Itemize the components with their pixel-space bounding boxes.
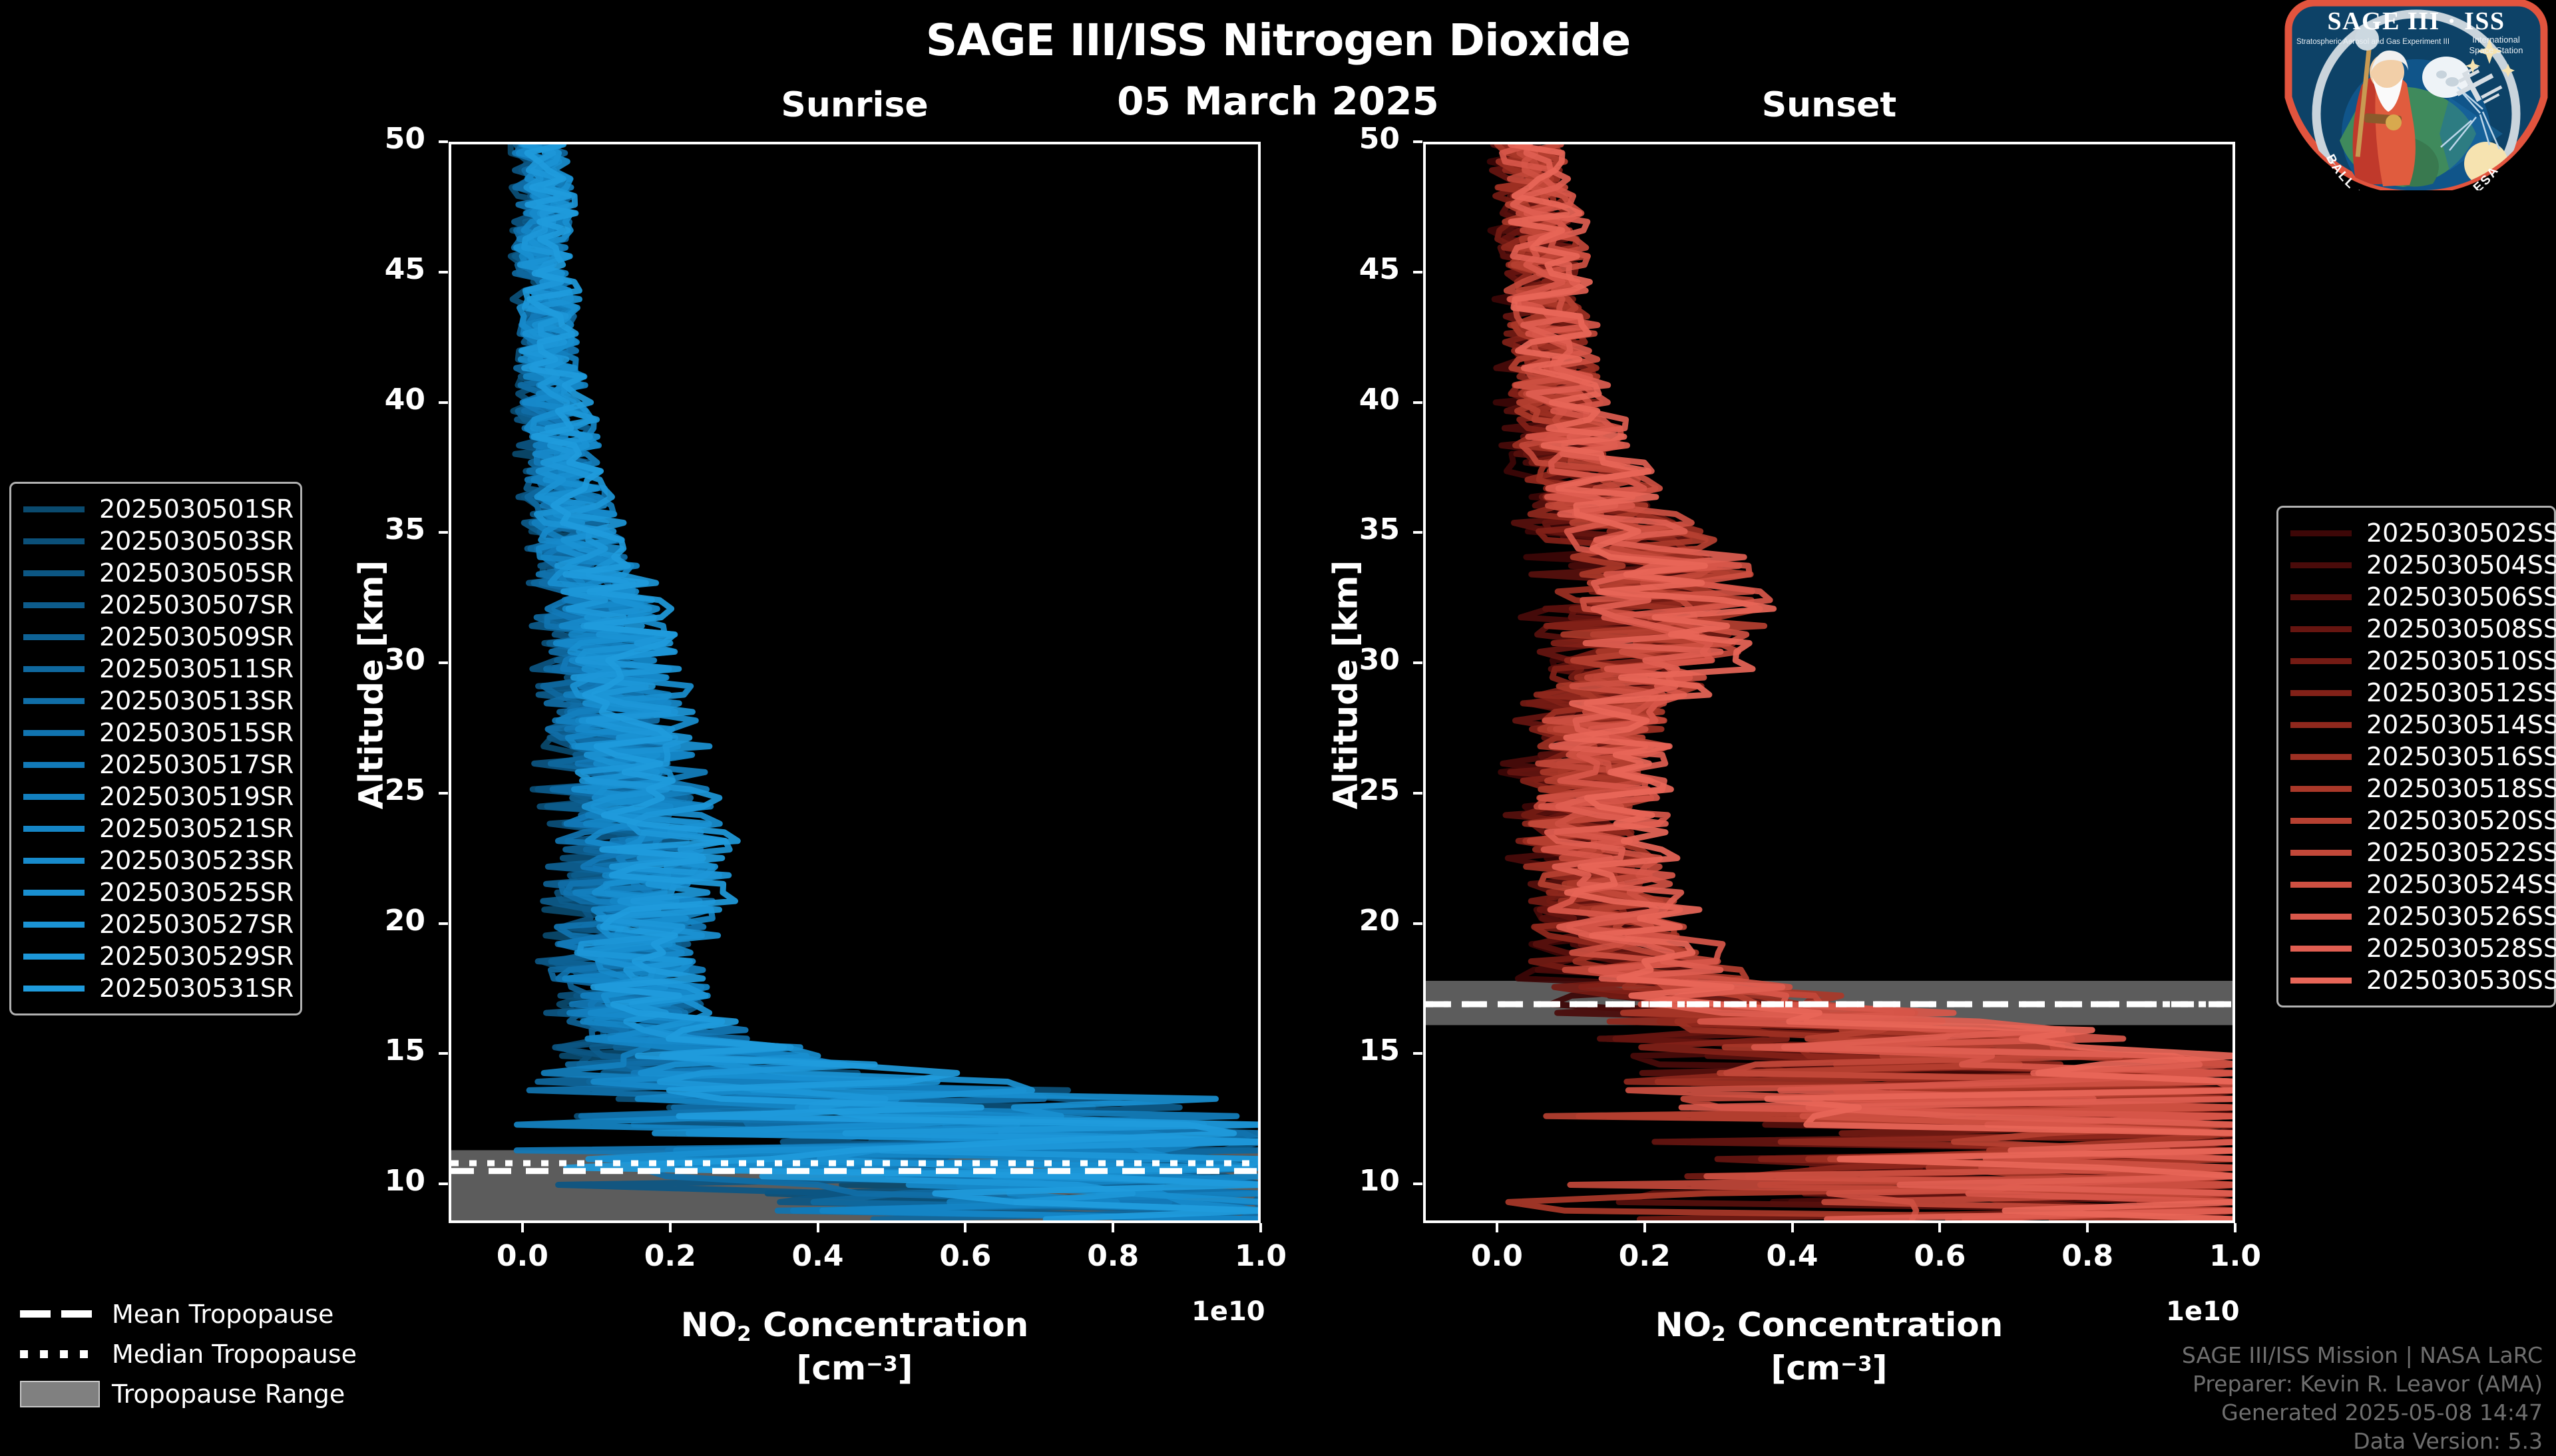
x-tick-mark <box>964 1223 966 1232</box>
y-tick-mark <box>1413 531 1422 534</box>
xlabel-unit-post: ] <box>1872 1349 1888 1387</box>
legend-item[interactable]: 2025030503SR <box>23 525 288 557</box>
x-tick-label: 0.8 <box>1060 1239 1166 1273</box>
x-tick-label: 0.6 <box>912 1239 1018 1273</box>
sunrise-profiles <box>451 144 1258 1220</box>
legend-item-label: 2025030515SR <box>99 718 294 747</box>
x-tick-label: 0.4 <box>1739 1239 1846 1273</box>
x-tick-label: 0.2 <box>1592 1239 1698 1273</box>
legend-item-label: 2025030513SR <box>99 686 294 715</box>
credit-data-version: Data Version: 5.3 <box>2182 1427 2543 1456</box>
legend-item-label: 2025030511SR <box>99 654 294 683</box>
legend-color-swatch <box>2290 978 2352 984</box>
sunset-y-axis-label: Altitude [km] <box>1326 560 1365 810</box>
legend-item-label: 2025030522SS <box>2366 838 2556 867</box>
xlabel-no2-text: NO <box>1655 1306 1711 1344</box>
legend-color-swatch <box>2290 946 2352 952</box>
legend-item[interactable]: 2025030504SS <box>2290 549 2542 581</box>
x-tick-label: 1.0 <box>1207 1239 1314 1273</box>
y-tick-mark <box>1413 401 1422 404</box>
x-tick-mark <box>1496 1223 1498 1232</box>
legend-item[interactable]: 2025030519SR <box>23 781 288 813</box>
legend-item[interactable]: 2025030501SR <box>23 493 288 525</box>
legend-item[interactable]: 2025030508SS <box>2290 613 2542 645</box>
legend-item[interactable]: 2025030529SR <box>23 940 288 972</box>
y-tick-label: 35 <box>325 512 425 546</box>
y-tick-label: 45 <box>1300 252 1400 286</box>
legend-item[interactable]: 2025030522SS <box>2290 836 2542 868</box>
legend-item[interactable]: 2025030518SS <box>2290 773 2542 805</box>
legend-item[interactable]: 2025030507SR <box>23 589 288 621</box>
legend-item[interactable]: 2025030530SS <box>2290 964 2542 996</box>
y-tick-mark <box>439 1183 448 1185</box>
legend-item-label: 2025030501SR <box>99 494 294 524</box>
x-tick-mark <box>2086 1223 2089 1232</box>
x-tick-label: 0.0 <box>469 1239 576 1273</box>
y-tick-label: 25 <box>325 773 425 807</box>
legend-color-swatch <box>2290 786 2352 792</box>
xlabel-concentration-text: Concentration <box>751 1306 1028 1344</box>
legend-color-swatch <box>2290 626 2352 632</box>
sunrise-x-offset-label: 1e10 <box>1191 1296 1265 1327</box>
sunrise-plot-area <box>449 142 1261 1223</box>
legend-item[interactable]: 2025030502SS <box>2290 517 2542 549</box>
legend-color-swatch <box>23 538 85 544</box>
legend-item-label: 2025030505SR <box>99 558 294 588</box>
sunset-panel-title: Sunset <box>1423 85 2235 125</box>
y-tick-label: 25 <box>1300 773 1400 807</box>
tropopause-legend: Mean Tropopause Median Tropopause Tropop… <box>20 1294 357 1414</box>
legend-color-swatch <box>2290 722 2352 728</box>
legend-item[interactable]: 2025030516SS <box>2290 741 2542 773</box>
legend-color-swatch <box>2290 914 2352 920</box>
y-tick-mark <box>1413 1183 1422 1185</box>
legend-color-swatch <box>23 922 85 928</box>
tropopause-range-label: Tropopause Range <box>112 1379 345 1409</box>
legend-item-label: 2025030525SR <box>99 878 294 907</box>
xlabel-unit-post: ] <box>898 1349 913 1387</box>
y-tick-label: 30 <box>1300 643 1400 677</box>
legend-item-label: 2025030528SS <box>2366 934 2556 963</box>
logo-subtitle-right-1: International <box>2472 35 2520 45</box>
legend-item-label: 2025030529SR <box>99 942 294 971</box>
legend-item-label: 2025030503SR <box>99 526 294 556</box>
legend-item-label: 2025030519SR <box>99 782 294 811</box>
y-tick-mark <box>439 271 448 273</box>
xlabel-unit-pre: [cm <box>1771 1349 1841 1387</box>
legend-color-swatch <box>23 954 85 960</box>
legend-color-swatch <box>23 666 85 672</box>
y-tick-label: 15 <box>325 1033 425 1067</box>
x-tick-label: 1.0 <box>2182 1239 2288 1273</box>
sunset-x-offset-label: 1e10 <box>2166 1296 2240 1327</box>
x-tick-mark <box>817 1223 819 1232</box>
mean-tropopause-label: Mean Tropopause <box>112 1300 333 1329</box>
y-tick-mark <box>439 1052 448 1055</box>
xlabel-no2-subscript: 2 <box>1711 1322 1726 1346</box>
sunrise-legend[interactable]: 2025030501SR2025030503SR2025030505SR2025… <box>9 482 302 1015</box>
legend-item-label: 2025030530SS <box>2366 966 2556 995</box>
legend-item-label: 2025030523SR <box>99 846 294 875</box>
mean-tropopause-dash-icon <box>20 1307 100 1322</box>
x-tick-mark <box>1112 1223 1114 1232</box>
y-tick-mark <box>1413 661 1422 664</box>
y-tick-label: 35 <box>1300 512 1400 546</box>
legend-color-swatch <box>2290 594 2352 600</box>
legend-color-swatch <box>2290 850 2352 856</box>
x-tick-label: 0.0 <box>1444 1239 1550 1273</box>
legend-color-swatch <box>23 506 85 512</box>
legend-color-swatch <box>2290 882 2352 888</box>
y-tick-mark <box>439 792 448 795</box>
logo-title-text: SAGE III · ISS <box>2327 7 2505 35</box>
legend-item[interactable]: 2025030528SS <box>2290 932 2542 964</box>
y-tick-label: 15 <box>1300 1033 1400 1067</box>
x-tick-mark <box>1791 1223 1794 1232</box>
legend-item[interactable]: 2025030509SR <box>23 621 288 653</box>
x-tick-mark <box>669 1223 672 1232</box>
legend-color-swatch <box>2290 818 2352 824</box>
legend-item-label: 2025030531SR <box>99 974 294 1003</box>
xlabel-no2-subscript: 2 <box>737 1322 751 1346</box>
y-tick-mark <box>1413 140 1422 143</box>
x-tick-label: 0.6 <box>1886 1239 1993 1273</box>
sunset-legend[interactable]: 2025030502SS2025030504SS2025030506SS2025… <box>2276 506 2556 1007</box>
legend-item-label: 2025030527SR <box>99 910 294 939</box>
legend-item-label: 2025030506SS <box>2366 582 2556 612</box>
legend-item[interactable]: 2025030531SR <box>23 972 288 1004</box>
x-tick-label: 0.8 <box>2034 1239 2141 1273</box>
legend-item-label: 2025030517SR <box>99 750 294 779</box>
y-tick-label: 40 <box>325 383 425 417</box>
legend-item[interactable]: 2025030512SS <box>2290 677 2542 709</box>
legend-color-swatch <box>2290 658 2352 664</box>
y-tick-mark <box>439 531 448 534</box>
legend-item-tropopause-range: Tropopause Range <box>20 1374 357 1414</box>
legend-item[interactable]: 2025030527SR <box>23 908 288 940</box>
legend-item[interactable]: 2025030510SS <box>2290 645 2542 677</box>
x-tick-label: 0.4 <box>765 1239 871 1273</box>
legend-color-swatch <box>23 890 85 896</box>
legend-item[interactable]: 2025030525SR <box>23 876 288 908</box>
y-tick-mark <box>1413 922 1422 925</box>
sunrise-panel-title: Sunrise <box>449 85 1261 125</box>
y-tick-mark <box>439 401 448 404</box>
legend-item[interactable]: 2025030526SS <box>2290 900 2542 932</box>
legend-color-swatch <box>23 730 85 736</box>
legend-item[interactable]: 2025030513SR <box>23 685 288 717</box>
legend-color-swatch <box>23 602 85 608</box>
median-tropopause-dot-icon <box>20 1347 100 1362</box>
xlabel-unit-exp: −3 <box>1840 1352 1872 1376</box>
y-tick-mark <box>439 140 448 143</box>
credits-block: SAGE III/ISS Mission | NASA LaRC Prepare… <box>2182 1342 2543 1456</box>
legend-item-label: 2025030507SR <box>99 590 294 620</box>
legend-item[interactable]: 2025030520SS <box>2290 805 2542 836</box>
x-tick-mark <box>521 1223 524 1232</box>
legend-item-label: 2025030502SS <box>2366 518 2556 548</box>
xlabel-unit-exp: −3 <box>866 1352 898 1376</box>
legend-item-median-tropopause: Median Tropopause <box>20 1334 357 1374</box>
legend-item[interactable]: 2025030514SS <box>2290 709 2542 741</box>
logo-subtitle-left: Stratospheric Aerosol and Gas Experiment… <box>2296 38 2449 46</box>
legend-item-label: 2025030526SS <box>2366 902 2556 931</box>
legend-color-swatch <box>23 634 85 640</box>
y-tick-label: 20 <box>325 904 425 938</box>
y-tick-mark <box>439 922 448 925</box>
legend-item-label: 2025030508SS <box>2366 614 2556 643</box>
y-tick-mark <box>1413 792 1422 795</box>
xlabel-no2-text: NO <box>681 1306 737 1344</box>
legend-color-swatch <box>23 570 85 576</box>
y-tick-label: 50 <box>1300 122 1400 156</box>
legend-item[interactable]: 2025030511SR <box>23 653 288 685</box>
sage-iii-iss-mission-patch-logo: SAGE III · ISS Stratospheric Aerosol and… <box>2283 0 2549 190</box>
legend-color-swatch <box>2290 530 2352 536</box>
logo-subtitle-right-2: Space Station <box>2469 45 2523 55</box>
x-tick-label: 0.2 <box>617 1239 724 1273</box>
legend-item-label: 2025030516SS <box>2366 742 2556 771</box>
legend-item[interactable]: 2025030506SS <box>2290 581 2542 613</box>
y-tick-mark <box>439 661 448 664</box>
legend-item-label: 2025030520SS <box>2366 806 2556 835</box>
x-tick-mark <box>1938 1223 1941 1232</box>
legend-item-label: 2025030518SS <box>2366 774 2556 803</box>
y-tick-label: 10 <box>325 1164 425 1198</box>
xlabel-concentration-text: Concentration <box>1726 1306 2003 1344</box>
sunset-x-axis-label: NO2 Concentration [cm−3] <box>1423 1304 2235 1389</box>
legend-item[interactable]: 2025030524SS <box>2290 868 2542 900</box>
legend-item[interactable]: 2025030521SR <box>23 813 288 844</box>
x-tick-mark <box>1643 1223 1646 1232</box>
x-tick-mark <box>2234 1223 2236 1232</box>
legend-item-label: 2025030504SS <box>2366 550 2556 580</box>
legend-color-swatch <box>23 858 85 864</box>
y-tick-label: 45 <box>325 252 425 286</box>
x-tick-mark <box>1259 1223 1262 1232</box>
median-tropopause-label: Median Tropopause <box>112 1340 357 1369</box>
sunset-plot-area <box>1423 142 2235 1223</box>
legend-item[interactable]: 2025030505SR <box>23 557 288 589</box>
sunset-profiles <box>1426 144 2233 1220</box>
legend-item-label: 2025030521SR <box>99 814 294 843</box>
legend-item[interactable]: 2025030515SR <box>23 717 288 749</box>
credit-preparer: Preparer: Kevin R. Leavor (AMA) <box>2182 1370 2543 1399</box>
legend-item-label: 2025030510SS <box>2366 646 2556 675</box>
sunrise-y-axis-label: Altitude [km] <box>351 560 390 810</box>
credit-mission: SAGE III/ISS Mission | NASA LaRC <box>2182 1342 2543 1370</box>
legend-item-label: 2025030514SS <box>2366 710 2556 739</box>
y-tick-label: 40 <box>1300 383 1400 417</box>
legend-color-swatch <box>2290 562 2352 568</box>
legend-color-swatch <box>23 794 85 800</box>
y-tick-mark <box>1413 1052 1422 1055</box>
tropopause-range-swatch <box>20 1381 100 1407</box>
legend-item-label: 2025030509SR <box>99 622 294 651</box>
legend-color-swatch <box>23 826 85 832</box>
legend-item-mean-tropopause: Mean Tropopause <box>20 1294 357 1334</box>
y-tick-label: 10 <box>1300 1164 1400 1198</box>
legend-item-label: 2025030512SS <box>2366 678 2556 707</box>
y-tick-label: 20 <box>1300 904 1400 938</box>
legend-color-swatch <box>23 986 85 992</box>
legend-color-swatch <box>23 698 85 704</box>
legend-color-swatch <box>2290 754 2352 760</box>
legend-color-swatch <box>23 762 85 768</box>
y-tick-label: 30 <box>325 643 425 677</box>
sunrise-x-axis-label: NO2 Concentration [cm−3] <box>449 1304 1261 1389</box>
legend-item-label: 2025030524SS <box>2366 870 2556 899</box>
page-title: SAGE III/ISS Nitrogen Dioxide <box>0 15 2556 66</box>
y-tick-mark <box>1413 271 1422 273</box>
legend-item[interactable]: 2025030523SR <box>23 844 288 876</box>
credit-generated: Generated 2025-05-08 14:47 <box>2182 1399 2543 1427</box>
legend-item[interactable]: 2025030517SR <box>23 749 288 781</box>
xlabel-unit-pre: [cm <box>797 1349 867 1387</box>
legend-color-swatch <box>2290 690 2352 696</box>
y-tick-label: 50 <box>325 122 425 156</box>
